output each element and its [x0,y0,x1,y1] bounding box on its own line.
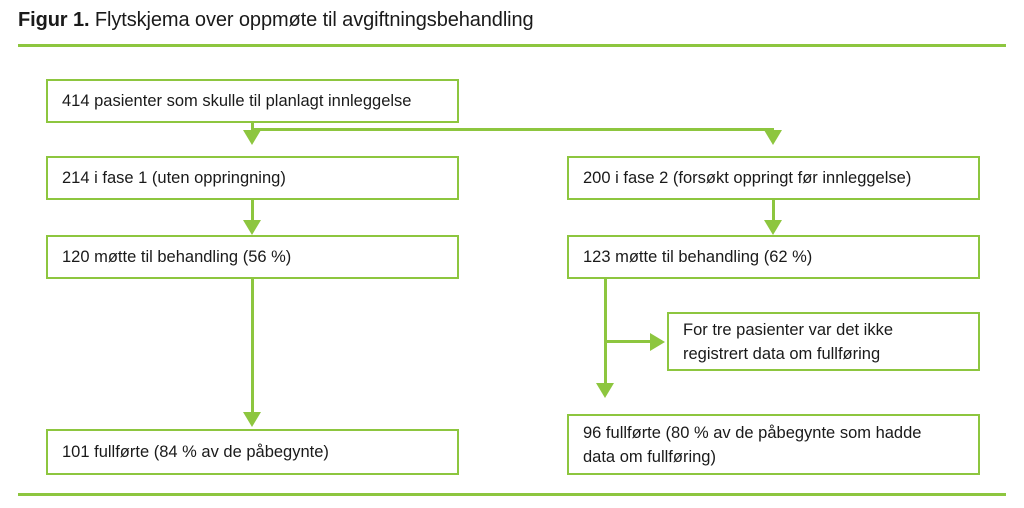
arrow-right-icon-attended-2-to-missing-data [650,333,665,351]
flow-node-attended-phase-1-label: 120 møtte til behandling (56 %) [62,245,291,269]
connector-attended-1-to-completed-1 [251,279,254,413]
flow-node-completed-phase-2-label: 96 fullførte (80 % av de påbegynte som h… [583,421,921,469]
arrow-down-icon-total-to-phase-2 [764,130,782,145]
flow-node-completed-phase-2-line-1: 96 fullførte (80 % av de påbegynte som h… [583,424,921,442]
flow-node-missing-data-line-1: For tre pasienter var det ikke [683,321,893,339]
arrow-down-icon-total-to-phase-1 [243,130,261,145]
arrow-down-icon-phase-2-to-attended-2 [764,220,782,235]
flow-node-missing-data: For tre pasienter var det ikke registrer… [667,312,980,371]
figure-caption-text: Flytskjema over oppmøte til avgiftningsb… [95,9,534,31]
flow-node-attended-phase-2: 123 møtte til behandling (62 %) [567,235,980,279]
flow-node-phase-2-label: 200 i fase 2 (forsøkt oppringt før innle… [583,166,911,190]
flow-node-total-patients: 414 pasienter som skulle til planlagt in… [46,79,459,123]
figure-number-label: Figur 1. [18,9,89,31]
connector-split-bar [251,128,774,131]
arrow-down-icon-attended-1-to-completed-1 [243,412,261,427]
connector-phase-2-to-attended-2 [772,200,775,222]
connector-phase-1-to-attended-1 [251,200,254,222]
footer-divider-rule [18,493,1006,496]
flow-node-total-patients-label: 414 pasienter som skulle til planlagt in… [62,89,411,113]
figure-root: Figur 1. Flytskjema over oppmøte til avg… [0,0,1024,508]
arrow-down-icon-phase-1-to-attended-1 [243,220,261,235]
flow-node-attended-phase-1: 120 møtte til behandling (56 %) [46,235,459,279]
flow-node-missing-data-line-2: registrert data om fullføring [683,345,880,363]
flow-node-missing-data-label: For tre pasienter var det ikke registrer… [683,318,893,366]
flow-node-completed-phase-2: 96 fullførte (80 % av de påbegynte som h… [567,414,980,475]
flow-node-completed-phase-2-line-2: data om fullføring) [583,448,716,466]
flow-node-completed-phase-1: 101 fullførte (84 % av de påbegynte) [46,429,459,475]
flow-node-phase-1-label: 214 i fase 1 (uten oppringning) [62,166,286,190]
flow-node-phase-1: 214 i fase 1 (uten oppringning) [46,156,459,200]
flow-node-attended-phase-2-label: 123 møtte til behandling (62 %) [583,245,812,269]
flow-node-phase-2: 200 i fase 2 (forsøkt oppringt før innle… [567,156,980,200]
arrow-down-icon-attended-2-to-completed-2 [596,383,614,398]
figure-title: Figur 1. Flytskjema over oppmøte til avg… [18,6,534,34]
header-divider-rule [18,44,1006,47]
flow-node-completed-phase-1-label: 101 fullførte (84 % av de påbegynte) [62,440,329,464]
connector-attended-2-to-completed-2 [604,279,607,384]
